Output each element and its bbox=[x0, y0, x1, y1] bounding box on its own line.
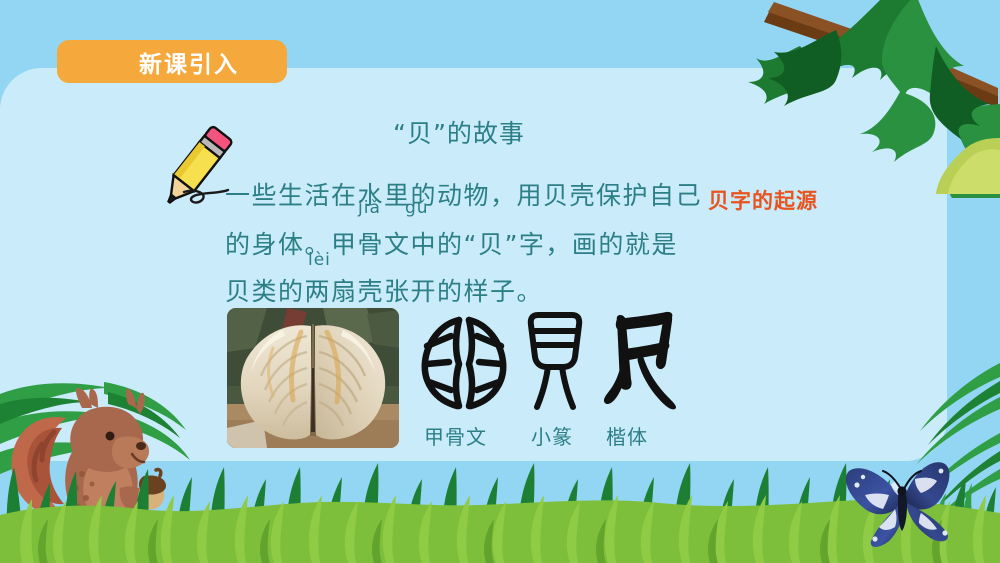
body-line-3: 贝类的两扇壳张开的样子。 bbox=[225, 272, 543, 308]
pinyin-gu: gǔ bbox=[405, 198, 429, 218]
pinyin-jia: jiǎ bbox=[358, 198, 381, 218]
oracle-bone-bei-glyph bbox=[415, 312, 513, 412]
slide-canvas: 新课引入 “贝”的故事 一些生活在水里的动物，用贝壳保护自己 的身体。甲骨文中的… bbox=[0, 0, 1000, 563]
page-title: “贝”的故事 bbox=[393, 114, 525, 150]
section-tab-label: 新课引入 bbox=[57, 40, 287, 83]
glyph-label-regular: 楷体 bbox=[606, 421, 648, 450]
shell-photo bbox=[227, 308, 399, 448]
body-line-2: 的身体。甲骨文中的“贝”字，画的就是 bbox=[225, 225, 678, 261]
pinyin-lei: lèi bbox=[308, 250, 331, 270]
glyph-label-oracle: 甲骨文 bbox=[424, 421, 487, 450]
regular-script-bei-glyph bbox=[600, 305, 682, 413]
seal-script-bei-glyph bbox=[520, 305, 590, 413]
section-tab[interactable]: 新课引入 bbox=[57, 40, 287, 83]
body-line-1: 一些生活在水里的动物，用贝壳保护自己 bbox=[225, 176, 702, 212]
origin-annotation: 贝字的起源 bbox=[708, 185, 818, 215]
glyph-label-seal: 小篆 bbox=[531, 421, 573, 450]
